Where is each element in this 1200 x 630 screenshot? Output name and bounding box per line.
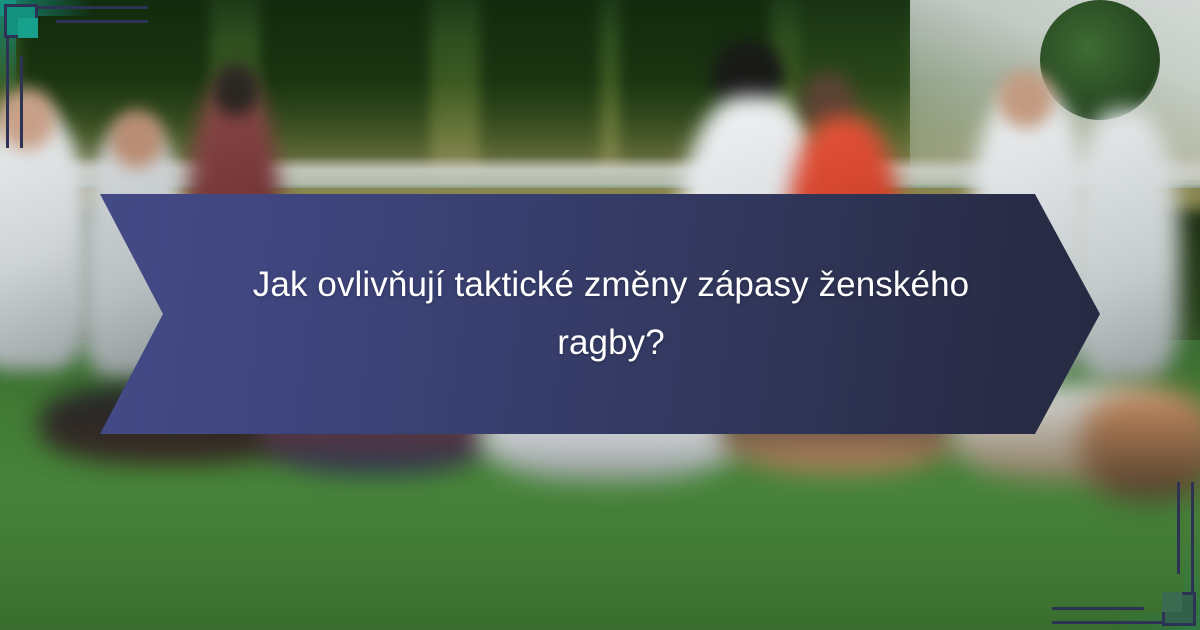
corner-ornament-top-left [0, 0, 150, 150]
corner-ornament-bottom-right [1050, 480, 1200, 630]
corner-square-inner [1162, 592, 1182, 612]
corner-line-vertical-inner [20, 56, 23, 148]
corner-line-horizontal-inner [1052, 607, 1144, 610]
corner-line-vertical-outer [1191, 482, 1194, 586]
corner-square-icon [4, 4, 38, 38]
corner-line-vertical-outer [6, 44, 9, 148]
player-figure [1070, 110, 1180, 380]
corner-line-horizontal-inner [56, 20, 148, 23]
corner-line-horizontal-outer [1052, 621, 1156, 624]
corner-line-vertical-inner [1177, 482, 1180, 574]
corner-square-icon [1162, 592, 1196, 626]
page-title: Jak ovlivňují taktické změny zápasy žens… [196, 256, 1026, 372]
headline-banner: Jak ovlivňují taktické změny zápasy žens… [100, 194, 1100, 434]
share-card: Jak ovlivňují taktické změny zápasy žens… [0, 0, 1200, 630]
foliage-strip [260, 0, 430, 180]
player-head [212, 64, 260, 116]
corner-line-horizontal-outer [44, 6, 148, 9]
foliage-strip [480, 0, 600, 180]
corner-square-inner [18, 18, 38, 38]
headline-wrapper: Jak ovlivňují taktické změny zápasy žens… [196, 256, 1026, 372]
player-head [998, 70, 1054, 128]
